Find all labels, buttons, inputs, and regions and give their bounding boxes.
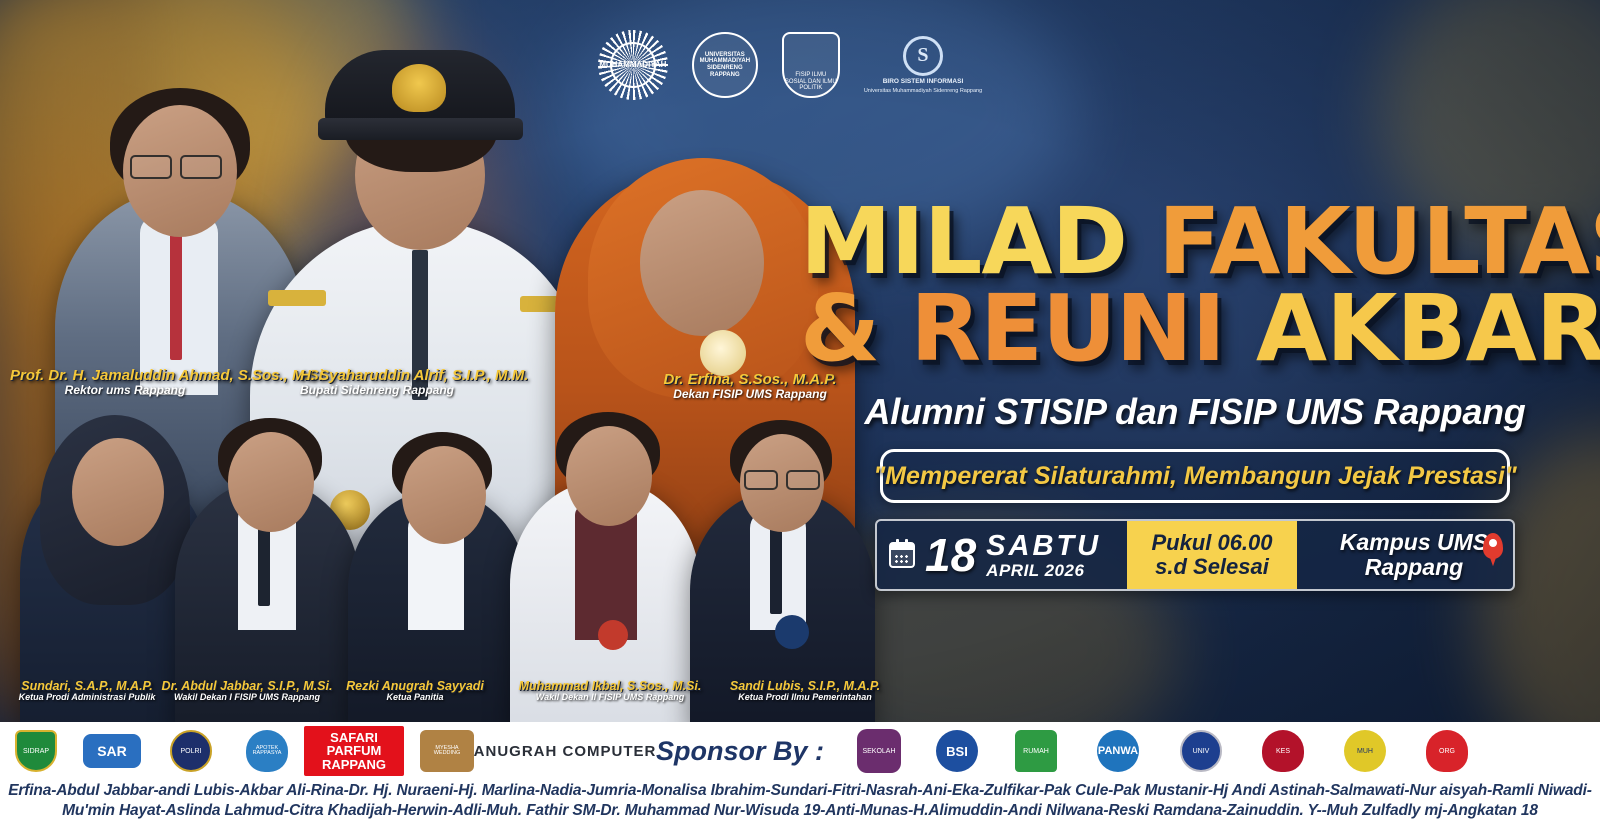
person-role-5: Ketua Panitia	[330, 693, 500, 702]
person-name-0: Prof. Dr. H. Jamaluddin Ahmad, S.Sos., M…	[10, 368, 240, 384]
sponsor-logo-13: MUH	[1324, 730, 1406, 772]
event-info-panel: MILAD FAKULTAS & REUNI AKBAR Alumni STIS…	[800, 200, 1590, 591]
person-label-4: Dr. Abdul Jabbar, S.I.P., M.Si. Wakil De…	[152, 680, 342, 703]
person-label-5: Rezki Anugrah Sayyadi Ketua Panitia	[330, 680, 500, 703]
sponsor-bar: SIDRAP SAR POLRI APOTEK RAPPASYA SAFARI …	[0, 722, 1600, 780]
biro-sistem-informasi-logo-icon: S BIRO SISTEM INFORMASI Universitas Muha…	[864, 36, 982, 94]
sponsor-label-7: SEKOLAH	[862, 748, 895, 755]
location-pin-icon	[1483, 533, 1503, 559]
sponsor-label-11: UNIV	[1193, 748, 1210, 755]
person-label-1: H. Syaharuddin Alrif, S.I.P., M.M. Bupat…	[300, 368, 540, 396]
alumni-line-2: Mu'min Hayat-Aslinda Lahmud-Citra Khadij…	[8, 801, 1592, 821]
event-venue-line-1: Kampus UMS	[1340, 530, 1488, 555]
fisip-logo-label: FISIP ILMU SOSIAL DAN ILMU POLITIK	[784, 72, 838, 92]
sponsor-label-12: KES	[1276, 748, 1290, 755]
event-time-line-2: s.d Selesai	[1155, 555, 1269, 579]
fisip-faculty-logo-icon: FISIP ILMU SOSIAL DAN ILMU POLITIK	[782, 32, 840, 98]
person-role-6: Wakil Dekan II FISIP UMS Rappang	[510, 693, 710, 702]
person-role-1: Bupati Sidenreng Rappang	[300, 384, 540, 397]
alumni-line-1: Erfina-Abdul Jabbar-andi Lubis-Akbar Ali…	[8, 781, 1592, 801]
sponsor-label-10: PANWA	[1098, 746, 1138, 757]
sponsor-label-0: SIDRAP	[23, 748, 49, 755]
sponsor-logo-3: APOTEK RAPPASYA	[230, 730, 304, 772]
person-role-4: Wakil Dekan I FISIP UMS Rappang	[152, 693, 342, 702]
event-day-number: 18	[925, 532, 976, 578]
sponsor-logo-8: BSI	[918, 730, 996, 772]
title-word-akbar: AKBAR	[1256, 287, 1600, 372]
sponsor-label-5: MYESHA WEDDING	[422, 746, 472, 757]
biro-logo-label: BIRO SISTEM INFORMASI	[883, 78, 964, 86]
event-venue-line-2: Rappang	[1365, 555, 1463, 580]
sun-emblem-label: MUHAMMADIYAH	[599, 61, 666, 69]
event-month-year: APRIL 2026	[986, 562, 1101, 580]
person-label-6: Muhammad Ikbal, S.Sos., M.Si. Wakil Deka…	[510, 680, 710, 703]
biro-logo-sublabel: Universitas Muhammadiyah Sidenreng Rappa…	[864, 88, 982, 95]
title-line-2: & REUNI AKBAR	[800, 287, 1570, 372]
sponsor-logo-11: UNIV	[1160, 730, 1242, 772]
event-day-of-week: SABTU	[986, 531, 1101, 561]
person-role-7: Ketua Prodi Ilmu Pemerintahan	[715, 693, 895, 702]
sponsor-by-label: Sponsor By :	[640, 736, 840, 767]
poster-title: MILAD FAKULTAS & REUNI AKBAR	[800, 200, 1590, 371]
sponsor-label-4: SAFARI PARFUM RAPPANG	[322, 730, 386, 772]
sponsor-label-9: RUMAH	[1023, 748, 1049, 755]
person-role-3: Ketua Prodi Administrasi Publik	[2, 693, 172, 702]
alumni-name-list: Erfina-Abdul Jabbar-andi Lubis-Akbar Ali…	[0, 780, 1600, 832]
sponsor-label-13: MUH	[1357, 748, 1373, 755]
sponsor-logo-6: ANUGRAH COMPUTER	[490, 743, 640, 760]
calendar-icon	[889, 542, 915, 568]
person-name-1: H. Syaharuddin Alrif, S.I.P., M.M.	[300, 368, 540, 384]
event-time-segment: Pukul 06.00 s.d Selesai	[1127, 521, 1297, 589]
sponsor-label-3: APOTEK RAPPASYA	[249, 746, 285, 757]
poster-subtitle: Alumni STISIP dan FISIP UMS Rappang	[800, 391, 1590, 433]
person-role-0: Rektor ums Rappang	[10, 384, 240, 397]
universitas-muhammadiyah-sidenreng-rappang-logo-icon: UNIVERSITAS MUHAMMADIYAH SIDENRENG RAPPA…	[692, 32, 758, 98]
sponsor-logo-0: SIDRAP	[0, 730, 72, 772]
sponsor-logo-2: POLRI	[152, 730, 230, 772]
sponsor-label-6: ANUGRAH COMPUTER	[474, 743, 657, 760]
sponsor-label-2: POLRI	[180, 748, 201, 755]
event-details-bar: 18 SABTU APRIL 2026 Pukul 06.00 s.d Sele…	[875, 519, 1515, 591]
sponsor-logo-4: SAFARI PARFUM RAPPANG	[304, 726, 404, 777]
person-label-3: Sundari, S.A.P., M.A.P. Ketua Prodi Admi…	[2, 680, 172, 703]
title-word-milad: MILAD	[800, 200, 1127, 285]
title-word-fakultas: FAKULTAS	[1158, 200, 1600, 285]
sponsor-logo-12: KES	[1242, 730, 1324, 772]
event-date-segment: 18 SABTU APRIL 2026	[877, 521, 1127, 589]
event-time-line-1: Pukul 06.00	[1151, 531, 1272, 555]
sponsor-logo-7: SEKOLAH	[840, 729, 918, 773]
sponsor-by-text: Sponsor By :	[656, 736, 824, 767]
title-word-reuni: REUNI	[910, 287, 1225, 372]
sponsor-label-14: ORG	[1439, 748, 1455, 755]
event-venue-segment: Kampus UMS Rappang	[1297, 521, 1513, 589]
event-poster: MUHAMMADIYAH UNIVERSITAS MUHAMMADIYAH SI…	[0, 0, 1600, 832]
sponsor-label-8: BSI	[946, 745, 968, 758]
sponsor-label-1: SAR	[97, 744, 127, 758]
sponsor-logo-10: PANWA	[1076, 730, 1160, 772]
muhammadiyah-sun-emblem-icon: MUHAMMADIYAH	[598, 30, 668, 100]
sponsor-logo-9: RUMAH	[996, 730, 1076, 772]
sponsor-logo-1: SAR	[72, 734, 152, 768]
poster-tagline: "Mempererat Silaturahmi, Membangun Jejak…	[873, 462, 1516, 491]
tagline-box: "Mempererat Silaturahmi, Membangun Jejak…	[880, 449, 1510, 503]
person-label-7: Sandi Lubis, S.I.P., M.A.P. Ketua Prodi …	[715, 680, 895, 703]
title-word-ampersand: &	[800, 287, 879, 372]
institution-logo-row: MUHAMMADIYAH UNIVERSITAS MUHAMMADIYAH SI…	[580, 26, 1000, 104]
sponsor-logo-14: ORG	[1406, 730, 1488, 772]
person-label-0: Prof. Dr. H. Jamaluddin Ahmad, S.Sos., M…	[10, 368, 240, 396]
title-line-1: MILAD FAKULTAS	[800, 200, 1570, 285]
ums-logo-label: UNIVERSITAS MUHAMMADIYAH SIDENRENG RAPPA…	[699, 52, 751, 78]
